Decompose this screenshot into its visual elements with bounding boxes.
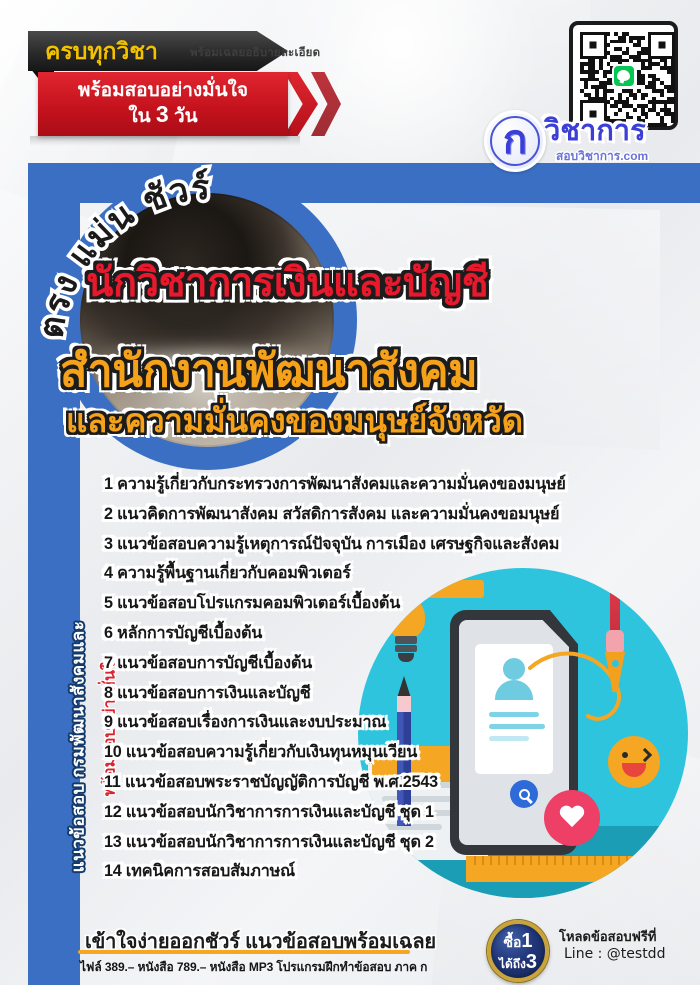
contents-list: 1 ความรู้เกี่ยวกับกระทรวงการพัฒนาสังคมแล… [104, 476, 690, 893]
contents-item: 2 แนวคิดการพัฒนาสังคม สวัสดิการสังคม และ… [104, 506, 690, 522]
title-line-2: สำนักงานพัฒนาสังคม [60, 348, 700, 393]
line-id-label[interactable]: Line : @testdd [564, 946, 665, 962]
contents-item: 8 แนวข้อสอบการเงินและบัญชี [104, 685, 690, 701]
title-line-1: นักวิชาการเงินและบัญชี [86, 263, 686, 303]
detailed-answers-label: พร้อมเฉลยอธิบายละเอียด [190, 44, 320, 62]
title-line-3: และความมั่นคงของมนุษย์จังหวัด [66, 404, 700, 437]
seal-buy-number: 1 [521, 930, 532, 952]
line-app-icon [612, 64, 636, 88]
seal-top-row: ซื้อ1 [499, 931, 537, 951]
logo-mark: ก [484, 110, 546, 172]
ready-days-number: 3 [156, 101, 169, 127]
all-subjects-label: ครบทุกวิชา [45, 40, 158, 63]
ribbon-shadow [30, 136, 300, 146]
logo-brand-name: วิชาการ [544, 117, 648, 146]
sidebar-vertical-text: แนวข้อสอบ กรมพัฒนาสังคมและ [65, 387, 92, 985]
contents-item: 12 แนวข้อสอบนักวิชาการการเงินและบัญชี ชุ… [104, 804, 690, 820]
logo-domain: สอบวิชาการ.com [556, 147, 648, 166]
contents-item: 10 แนวข้อสอบความรู้เกี่ยวกับเงินทุนหมุนเ… [104, 744, 690, 760]
contents-item: 14 เทคนิคการสอบสัมภาษณ์ [104, 863, 690, 879]
contents-item: 7 แนวข้อสอบการบัญชีเบื้องต้น [104, 655, 690, 671]
contents-item: 4 ความรู้พื้นฐานเกี่ยวกับคอมพิวเตอร์ [104, 565, 690, 581]
contents-item: 13 แนวข้อสอบนักวิชาการการเงินและบัญชี ชุ… [104, 834, 690, 850]
footer-pricing: ไฟล์ 389.– หนังสือ 789.– หนังสือ MP3 โปร… [80, 958, 427, 977]
seal-get-number: 3 [526, 951, 537, 973]
site-logo[interactable]: ก วิชาการ สอบวิชาการ.com [484, 110, 648, 172]
seal-get-label: ได้ถึง [499, 957, 526, 971]
logo-wordmark: วิชาการ สอบวิชาการ.com [544, 117, 648, 166]
ready-in-days-ribbon: พร้อมสอบอย่างมั่นใจ ใน 3 วัน [38, 72, 288, 136]
logo-ring [490, 116, 540, 166]
free-download-label: โหลดข้อสอบฟรีที่ [559, 926, 656, 947]
ready-line-1: พร้อมสอบอย่างมั่นใจ [78, 81, 248, 101]
buy-one-get-three-seal: ซื้อ1 ได้ถึง3 [487, 920, 549, 982]
ready-line-2: ใน 3 วัน [128, 101, 197, 128]
contents-item: 1 ความรู้เกี่ยวกับกระทรวงการพัฒนาสังคมแล… [104, 476, 690, 492]
ready-suffix: วัน [169, 106, 198, 127]
ready-prefix: ใน [128, 106, 156, 127]
seal-buy-label: ซื้อ [503, 934, 521, 950]
contents-item: 9 แนวข้อสอบเรื่องการเงินและงบประมาณ [104, 714, 690, 730]
contents-item: 11 แนวข้อสอบพระราชบัญญัติการบัญชี พ.ศ.25… [104, 774, 690, 790]
contents-item: 5 แนวข้อสอบโปรแกรมคอมพิวเตอร์เบื้องต้น [104, 595, 690, 611]
poster-canvas: แนวข้อสอบ กรมพัฒนาสังคมและ พร้อมสอบอย่าง… [0, 0, 700, 985]
qr-pattern [580, 32, 667, 119]
contents-item: 3 แนวข้อสอบความรู้เหตุการณ์ปัจจุบัน การเ… [104, 536, 690, 552]
bottom-blue-stub [28, 930, 80, 985]
footer-divider [78, 950, 410, 954]
seal-bottom-row: ได้ถึง3 [499, 952, 537, 972]
contents-item: 6 หลักการบัญชีเบื้องต้น [104, 625, 690, 641]
